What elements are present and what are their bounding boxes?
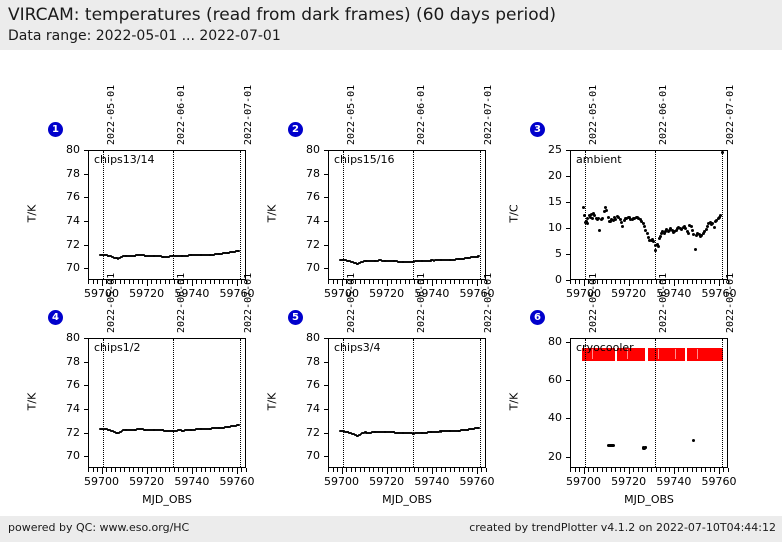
y-tick-label: 60 <box>526 373 562 386</box>
x-tick-minor <box>232 468 233 472</box>
x-tick-major <box>147 280 148 286</box>
panel-label-6: cryocooler <box>576 341 634 354</box>
x-tick-minor <box>174 280 175 284</box>
x-tick-minor <box>454 280 455 284</box>
x-tick-minor <box>701 280 702 284</box>
date-tick-label: 2022-05-01 <box>588 273 599 333</box>
data-point <box>607 216 610 219</box>
x-tick-minor <box>201 280 202 284</box>
x-tick-minor <box>409 280 410 284</box>
x-tick-minor <box>151 468 152 472</box>
x-tick-label: 59760 <box>694 475 744 488</box>
y-tick-label: 72 <box>284 238 320 251</box>
x-tick-minor <box>138 468 139 472</box>
x-axis-title: MJD_OBS <box>357 493 457 506</box>
x-tick-minor <box>486 468 487 472</box>
x-tick-major <box>102 280 103 286</box>
panel-label-3: ambient <box>576 153 622 166</box>
x-tick-label: 59740 <box>649 287 699 300</box>
x-tick-minor <box>683 280 684 284</box>
date-tick-label: 2022-05-01 <box>346 85 357 145</box>
x-tick-minor <box>602 468 603 472</box>
x-tick-major <box>674 468 675 474</box>
x-tick-minor <box>210 468 211 472</box>
x-tick-minor <box>156 468 157 472</box>
x-tick-label: 59760 <box>452 287 502 300</box>
x-tick-minor <box>196 280 197 284</box>
x-tick-minor <box>468 280 469 284</box>
date-gridline <box>655 151 656 279</box>
data-point <box>605 209 608 212</box>
x-tick-minor <box>723 468 724 472</box>
x-tick-minor <box>597 468 598 472</box>
x-tick-minor <box>228 280 229 284</box>
x-tick-minor <box>575 280 576 284</box>
data-point <box>691 229 694 232</box>
y-tick-label: 20 <box>526 450 562 463</box>
x-tick-minor <box>124 280 125 284</box>
x-tick-label: 59760 <box>452 475 502 488</box>
y-tick <box>566 342 570 343</box>
x-tick-minor <box>391 468 392 472</box>
x-tick-minor <box>111 468 112 472</box>
date-gridline <box>413 339 414 467</box>
x-tick-minor <box>656 468 657 472</box>
x-tick-minor <box>651 280 652 284</box>
x-tick-minor <box>223 280 224 284</box>
y-tick-label: 74 <box>44 214 80 227</box>
x-tick-major <box>102 468 103 474</box>
x-tick-minor <box>593 468 594 472</box>
x-tick-minor <box>178 468 179 472</box>
x-tick-minor <box>687 468 688 472</box>
y-tick <box>84 197 88 198</box>
x-tick-minor <box>360 280 361 284</box>
x-tick-major <box>477 468 478 474</box>
x-tick-minor <box>579 468 580 472</box>
x-tick-minor <box>360 468 361 472</box>
y-tick <box>566 176 570 177</box>
x-tick-minor <box>378 280 379 284</box>
x-tick-minor <box>369 280 370 284</box>
x-tick-minor <box>219 468 220 472</box>
plot-frame-6: cryocooler <box>570 338 728 468</box>
x-tick-minor <box>468 468 469 472</box>
y-tick <box>324 221 328 222</box>
x-tick-major <box>674 280 675 286</box>
y-tick <box>324 174 328 175</box>
x-tick-minor <box>205 468 206 472</box>
x-tick-minor <box>615 280 616 284</box>
x-tick-minor <box>450 468 451 472</box>
data-point <box>721 151 724 154</box>
y-tick <box>84 362 88 363</box>
data-point <box>586 222 589 225</box>
data-point <box>644 446 647 449</box>
y-tick-label: 74 <box>284 402 320 415</box>
x-tick-label: 59740 <box>649 475 699 488</box>
x-tick-minor <box>93 280 94 284</box>
x-tick-minor <box>642 280 643 284</box>
x-tick-minor <box>129 280 130 284</box>
x-tick-minor <box>382 280 383 284</box>
y-axis-title: T/K <box>26 380 39 424</box>
plot-frame-5: chips3/4 <box>328 338 486 468</box>
date-tick-label: 2022-07-01 <box>725 273 736 333</box>
y-tick <box>566 202 570 203</box>
x-tick-minor <box>187 468 188 472</box>
y-tick-label: 80 <box>44 143 80 156</box>
x-tick-major <box>192 280 193 286</box>
x-tick-minor <box>142 468 143 472</box>
x-tick-minor <box>138 280 139 284</box>
y-axis-title: T/K <box>508 380 521 424</box>
x-tick-major <box>719 468 720 474</box>
data-point <box>598 229 601 232</box>
x-tick-minor <box>160 280 161 284</box>
panel-badge-6[interactable]: 6 <box>530 310 545 325</box>
date-tick-label: 2022-05-01 <box>588 85 599 145</box>
created-by-label: created by trendPlotter v4.1.2 on 2022-0… <box>469 521 776 534</box>
y-axis-title: T/C <box>508 192 521 236</box>
panel-badge-4[interactable]: 4 <box>48 310 63 325</box>
x-tick-minor <box>400 280 401 284</box>
x-tick-label: 59720 <box>362 287 412 300</box>
x-tick-major <box>387 468 388 474</box>
x-axis-title: MJD_OBS <box>599 493 699 506</box>
x-tick-minor <box>210 280 211 284</box>
date-gridline <box>722 339 723 467</box>
date-gridline <box>343 339 344 467</box>
x-tick-minor <box>611 280 612 284</box>
x-tick-minor <box>205 280 206 284</box>
x-tick-minor <box>333 280 334 284</box>
x-tick-minor <box>364 468 365 472</box>
x-tick-minor <box>588 468 589 472</box>
x-tick-minor <box>665 468 666 472</box>
x-tick-minor <box>669 468 670 472</box>
x-tick-minor <box>378 468 379 472</box>
plot-frame-1: chips13/14 <box>88 150 246 280</box>
panel-badge-1[interactable]: 1 <box>48 122 63 137</box>
x-tick-label: 59700 <box>559 287 609 300</box>
date-tick-label: 2022-06-01 <box>416 85 427 145</box>
x-tick-label: 59720 <box>604 287 654 300</box>
date-gridline <box>722 151 723 279</box>
y-tick <box>84 245 88 246</box>
x-tick-major <box>584 280 585 286</box>
x-tick-minor <box>133 468 134 472</box>
x-tick-minor <box>346 468 347 472</box>
x-tick-major <box>342 468 343 474</box>
y-tick-label: 80 <box>526 335 562 348</box>
y-tick-label: 76 <box>44 190 80 203</box>
x-tick-minor <box>337 280 338 284</box>
x-tick-major <box>237 468 238 474</box>
x-tick-minor <box>133 280 134 284</box>
data-point <box>706 225 709 228</box>
x-tick-minor <box>638 468 639 472</box>
y-tick-label: 72 <box>44 426 80 439</box>
date-gridline <box>480 339 481 467</box>
x-tick-minor <box>615 468 616 472</box>
x-tick-minor <box>414 468 415 472</box>
x-tick-minor <box>423 468 424 472</box>
x-tick-minor <box>638 280 639 284</box>
y-tick-label: 15 <box>526 195 562 208</box>
date-tick-label: 2022-07-01 <box>483 273 494 333</box>
x-tick-minor <box>364 280 365 284</box>
x-tick-minor <box>120 280 121 284</box>
x-tick-minor <box>570 280 571 284</box>
data-range-label: Data range: 2022-05-01 ... 2022-07-01 <box>8 28 281 44</box>
panel-label-2: chips15/16 <box>334 153 395 166</box>
powered-by-label: powered by QC: www.eso.org/HC <box>8 521 189 534</box>
x-tick-minor <box>427 280 428 284</box>
x-tick-minor <box>705 280 706 284</box>
y-tick-label: 72 <box>284 426 320 439</box>
x-tick-minor <box>714 280 715 284</box>
x-tick-minor <box>418 468 419 472</box>
x-tick-minor <box>223 468 224 472</box>
y-tick <box>84 385 88 386</box>
x-tick-minor <box>459 468 460 472</box>
x-tick-minor <box>246 468 247 472</box>
x-tick-minor <box>169 280 170 284</box>
x-tick-minor <box>187 280 188 284</box>
x-tick-minor <box>214 280 215 284</box>
x-tick-minor <box>351 468 352 472</box>
x-tick-minor <box>459 280 460 284</box>
alarm-band <box>687 348 722 361</box>
x-tick-major <box>719 280 720 286</box>
x-tick-label: 59700 <box>559 475 609 488</box>
date-gridline <box>103 339 104 467</box>
x-tick-minor <box>201 468 202 472</box>
data-point <box>705 228 708 231</box>
date-tick-label: 2022-05-01 <box>106 85 117 145</box>
date-tick-label: 2022-06-01 <box>658 273 669 333</box>
y-tick <box>84 174 88 175</box>
x-tick-minor <box>373 280 374 284</box>
trend-plot-page: VIRCAM: temperatures (read from dark fra… <box>0 0 782 542</box>
y-tick <box>324 362 328 363</box>
x-tick-minor <box>705 468 706 472</box>
x-tick-minor <box>450 280 451 284</box>
date-tick-label: 2022-06-01 <box>176 85 187 145</box>
x-tick-minor <box>472 280 473 284</box>
y-tick-label: 78 <box>284 355 320 368</box>
y-tick <box>324 456 328 457</box>
y-tick <box>566 228 570 229</box>
data-point <box>692 439 695 442</box>
x-tick-minor <box>405 280 406 284</box>
y-tick-label: 74 <box>44 402 80 415</box>
x-tick-minor <box>570 468 571 472</box>
x-tick-minor <box>647 280 648 284</box>
y-tick <box>84 433 88 434</box>
x-tick-minor <box>660 468 661 472</box>
x-tick-minor <box>606 280 607 284</box>
date-tick-label: 2022-05-01 <box>106 273 117 333</box>
y-tick-label: 72 <box>44 238 80 251</box>
alarm-band-stripe <box>675 349 676 359</box>
y-tick-label: 5 <box>526 247 562 260</box>
x-tick-minor <box>579 280 580 284</box>
panel-label-4: chips1/2 <box>94 341 141 354</box>
x-tick-minor <box>620 468 621 472</box>
x-tick-minor <box>620 280 621 284</box>
y-tick-label: 78 <box>44 355 80 368</box>
x-tick-major <box>432 468 433 474</box>
x-tick-minor <box>165 280 166 284</box>
panel-badge-5[interactable]: 5 <box>288 310 303 325</box>
x-tick-minor <box>701 468 702 472</box>
x-tick-label: 59720 <box>122 475 172 488</box>
date-gridline <box>173 339 174 467</box>
y-tick <box>324 245 328 246</box>
data-point <box>654 249 657 252</box>
x-tick-minor <box>696 280 697 284</box>
y-tick <box>324 197 328 198</box>
panel-label-1: chips13/14 <box>94 153 155 166</box>
x-tick-minor <box>481 468 482 472</box>
date-tick-label: 2022-06-01 <box>658 85 669 145</box>
y-tick-label: 80 <box>284 331 320 344</box>
x-tick-minor <box>151 280 152 284</box>
x-tick-major <box>342 280 343 286</box>
x-tick-minor <box>214 468 215 472</box>
x-tick-minor <box>355 468 356 472</box>
x-tick-minor <box>396 468 397 472</box>
date-gridline <box>173 151 174 279</box>
x-axis-title: MJD_OBS <box>117 493 217 506</box>
x-tick-major <box>432 280 433 286</box>
x-tick-minor <box>602 280 603 284</box>
x-tick-minor <box>129 468 130 472</box>
date-tick-label: 2022-07-01 <box>483 85 494 145</box>
x-tick-minor <box>414 280 415 284</box>
y-tick <box>324 150 328 151</box>
page-footer: powered by QC: www.eso.org/HC created by… <box>0 516 782 542</box>
data-point <box>643 225 646 228</box>
x-tick-major <box>477 280 478 286</box>
x-tick-label: 59700 <box>77 475 127 488</box>
x-tick-minor <box>728 468 729 472</box>
page-header: VIRCAM: temperatures (read from dark fra… <box>0 0 782 50</box>
date-tick-label: 2022-07-01 <box>243 273 254 333</box>
y-tick-label: 80 <box>284 143 320 156</box>
data-point <box>646 232 649 235</box>
x-tick-minor <box>391 280 392 284</box>
y-tick-label: 76 <box>44 378 80 391</box>
data-point <box>644 229 647 232</box>
x-tick-minor <box>651 468 652 472</box>
panel-badge-3[interactable]: 3 <box>530 122 545 137</box>
x-tick-minor <box>678 468 679 472</box>
x-tick-minor <box>463 280 464 284</box>
y-tick <box>324 385 328 386</box>
y-tick-label: 76 <box>284 378 320 391</box>
y-tick <box>84 150 88 151</box>
x-tick-minor <box>606 468 607 472</box>
data-point <box>659 235 662 238</box>
x-tick-minor <box>232 280 233 284</box>
y-tick <box>324 268 328 269</box>
y-tick <box>566 150 570 151</box>
y-tick <box>566 380 570 381</box>
x-tick-label: 59740 <box>167 475 217 488</box>
y-tick-label: 25 <box>526 143 562 156</box>
x-tick-minor <box>692 280 693 284</box>
x-tick-minor <box>692 468 693 472</box>
plot-frame-4: chips1/2 <box>88 338 246 468</box>
y-tick-label: 0 <box>526 273 562 286</box>
x-tick-minor <box>687 280 688 284</box>
x-tick-minor <box>427 468 428 472</box>
x-tick-label: 59760 <box>694 287 744 300</box>
y-tick-label: 76 <box>284 190 320 203</box>
y-tick-label: 70 <box>284 449 320 462</box>
x-tick-minor <box>669 280 670 284</box>
date-tick-label: 2022-07-01 <box>243 85 254 145</box>
y-tick-label: 78 <box>44 167 80 180</box>
page-title: VIRCAM: temperatures (read from dark fra… <box>8 5 556 25</box>
y-tick-label: 70 <box>44 449 80 462</box>
x-tick-minor <box>696 468 697 472</box>
date-gridline <box>480 151 481 279</box>
x-tick-minor <box>683 468 684 472</box>
x-tick-minor <box>624 280 625 284</box>
panel-badge-2[interactable]: 2 <box>288 122 303 137</box>
x-tick-minor <box>106 468 107 472</box>
y-tick <box>84 456 88 457</box>
y-tick-label: 70 <box>44 261 80 274</box>
x-tick-minor <box>160 468 161 472</box>
x-tick-minor <box>333 468 334 472</box>
data-point <box>713 226 716 229</box>
y-axis-title: T/K <box>266 380 279 424</box>
y-tick <box>324 409 328 410</box>
x-tick-minor <box>328 468 329 472</box>
x-tick-minor <box>436 280 437 284</box>
x-tick-label: 59740 <box>167 287 217 300</box>
data-point <box>621 225 624 228</box>
x-tick-minor <box>369 468 370 472</box>
x-tick-minor <box>441 468 442 472</box>
x-tick-minor <box>454 468 455 472</box>
x-tick-minor <box>409 468 410 472</box>
date-tick-label: 2022-06-01 <box>416 273 427 333</box>
date-gridline <box>103 151 104 279</box>
x-tick-minor <box>241 468 242 472</box>
y-tick-label: 80 <box>44 331 80 344</box>
y-tick-label: 20 <box>526 169 562 182</box>
x-tick-minor <box>88 468 89 472</box>
y-tick <box>324 433 328 434</box>
y-tick <box>324 338 328 339</box>
y-tick <box>84 221 88 222</box>
x-tick-label: 59720 <box>362 475 412 488</box>
data-point <box>657 245 660 248</box>
alarm-band-stripe <box>658 349 659 359</box>
data-point <box>690 225 693 228</box>
x-tick-minor <box>97 280 98 284</box>
x-tick-major <box>192 468 193 474</box>
x-tick-label: 59740 <box>407 287 457 300</box>
data-point <box>612 444 615 447</box>
y-tick <box>566 457 570 458</box>
